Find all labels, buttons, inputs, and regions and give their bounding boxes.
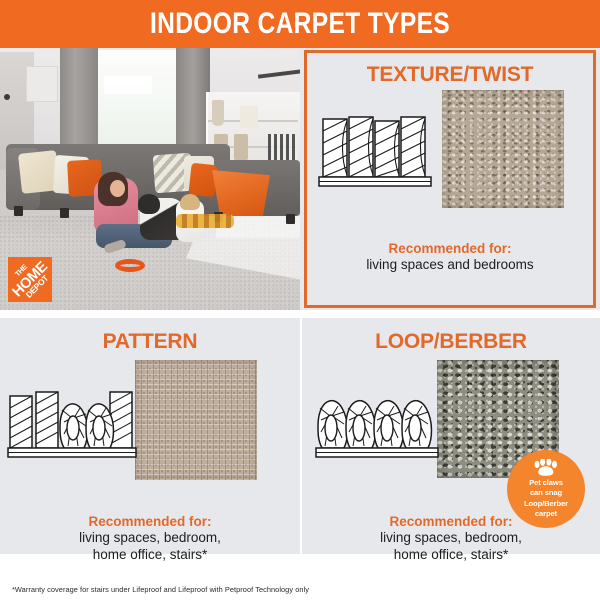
indoor-carpet-types-infographic: INDOOR CARPET TYPES	[0, 0, 600, 600]
photo-dog-head	[138, 194, 160, 214]
photo-dog-toy-ring	[115, 259, 145, 272]
photo-candle	[240, 106, 258, 128]
panel-loop-berber: LOOP/BERBER	[300, 314, 600, 580]
texture-twist-carpet-swatch	[442, 90, 564, 208]
photo-child-hair	[180, 194, 200, 210]
pattern-carpet-swatch	[135, 360, 257, 480]
looped-pile-fiber-diagram	[314, 370, 440, 470]
panel-texture-twist: TEXTURE/TWIST	[300, 48, 600, 314]
photo-sofa-leg	[286, 214, 295, 224]
panel-title-texture-twist: TEXTURE/TWIST	[307, 63, 593, 87]
photo-woman-face	[110, 180, 125, 197]
page-title: INDOOR CARPET TYPES	[150, 7, 450, 41]
badge-line: Pet claws	[529, 478, 563, 488]
recommended-label: Recommended for:	[302, 514, 600, 530]
photo-vase	[212, 100, 224, 126]
panel-title-pattern: PATTERN	[0, 330, 300, 354]
photo-sofa-leg	[60, 208, 69, 218]
badge-line: Loop/Berber	[524, 499, 568, 509]
recommended-line: home office, stairs*	[0, 547, 300, 563]
recommended-line: living spaces, bedroom,	[0, 530, 300, 546]
paw-print-icon	[533, 459, 559, 476]
panel-background: LOOP/BERBER	[302, 318, 600, 554]
living-room-photo: THE HOME DEPOT	[0, 48, 300, 314]
panel-pattern: PATTERN	[0, 314, 300, 580]
panel-title-loop-berber: LOOP/BERBER	[302, 330, 600, 354]
footnote-text: *Warranty coverage for stairs under Life…	[0, 585, 309, 594]
the-home-depot-logo[interactable]: THE HOME DEPOT	[8, 257, 52, 302]
panel-living-room-photo: THE HOME DEPOT	[0, 48, 300, 314]
panel-background: PATTERN	[0, 318, 300, 554]
pattern-cut-and-loop-fiber-diagram	[6, 370, 138, 470]
photo-pillow	[188, 163, 217, 198]
photo-sofa-leg	[14, 206, 23, 216]
photo-shelf-books	[268, 134, 298, 160]
twisted-cut-pile-fiber-diagram	[317, 101, 439, 199]
badge-line: can snag	[530, 488, 562, 498]
photo-toys	[176, 214, 234, 228]
recommended-line: living spaces and bedrooms	[307, 257, 593, 273]
infographic-header: INDOOR CARPET TYPES	[0, 0, 600, 48]
recommended-line: home office, stairs*	[302, 547, 600, 563]
recommended-label: Recommended for:	[0, 514, 300, 530]
recommendation-loop-berber: Recommended for: living spaces, bedroom,…	[302, 514, 600, 563]
photo-jar	[234, 134, 248, 160]
recommendation-pattern: Recommended for: living spaces, bedroom,…	[0, 514, 300, 563]
recommended-line: living spaces, bedroom,	[302, 530, 600, 546]
panel-orange-frame: TEXTURE/TWIST	[304, 50, 596, 308]
recommendation-texture-twist: Recommended for: living spaces and bedro…	[307, 241, 593, 274]
footnote-bar: *Warranty coverage for stairs under Life…	[0, 578, 600, 600]
photo-wall-art	[26, 66, 58, 102]
recommended-label: Recommended for:	[307, 241, 593, 257]
